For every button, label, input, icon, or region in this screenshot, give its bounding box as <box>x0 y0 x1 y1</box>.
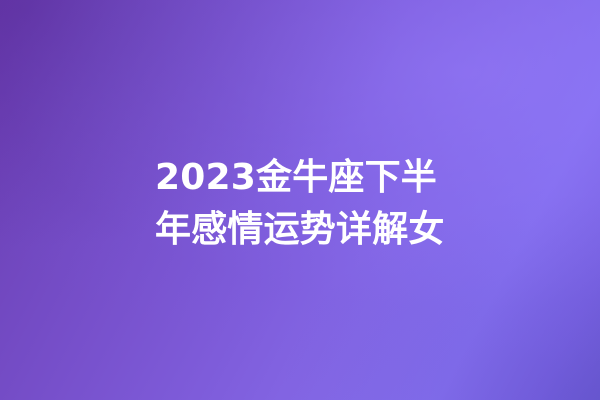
page-title: 2023金牛座下半年感情运势详解女 <box>155 152 455 256</box>
title-block: 2023金牛座下半年感情运势详解女 <box>155 152 455 256</box>
poster-canvas: 2023金牛座下半年感情运势详解女 <box>0 0 600 400</box>
